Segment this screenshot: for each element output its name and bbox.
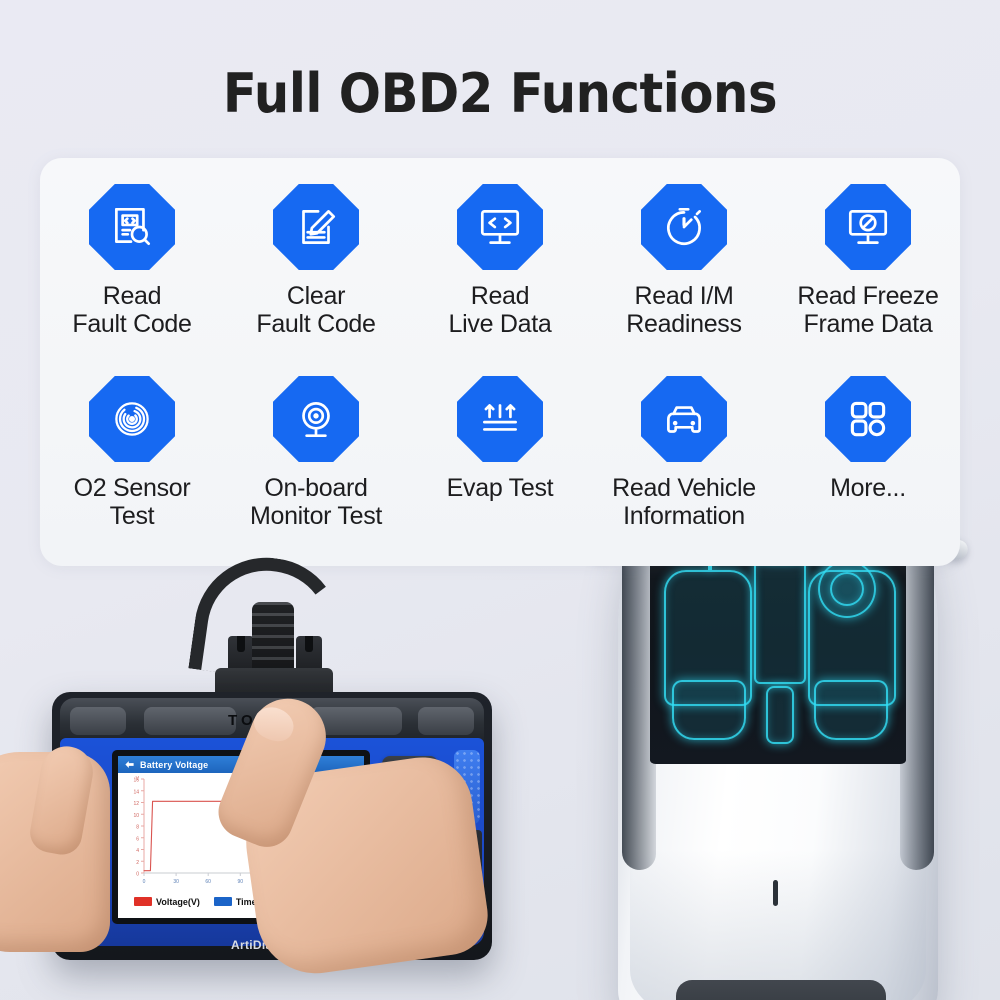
monitor-code-icon: [457, 184, 543, 270]
function-more[interactable]: More...: [776, 376, 960, 530]
svg-text:8: 8: [136, 825, 139, 831]
radar-sensor-icon: [89, 376, 175, 462]
function-label: Evap Test: [447, 474, 554, 502]
legend-label: Voltage(V): [156, 897, 200, 907]
legend-item-voltage: Voltage(V): [134, 897, 200, 907]
function-label: O2 Sensor Test: [74, 474, 191, 530]
function-clear-fault-code[interactable]: Clear Fault Code: [224, 184, 408, 338]
function-read-vehicle-information[interactable]: Read Vehicle Information: [592, 376, 776, 530]
function-read-fault-code[interactable]: Read Fault Code: [40, 184, 224, 338]
document-code-search-icon: [89, 184, 175, 270]
grid-apps-icon: [825, 376, 911, 462]
svg-text:12: 12: [133, 801, 139, 807]
car-wiper: [773, 880, 778, 906]
car-front-grille: [676, 980, 886, 1000]
function-label: On-board Monitor Test: [250, 474, 382, 530]
function-label: Read Vehicle Information: [612, 474, 756, 530]
document-pencil-icon: [273, 184, 359, 270]
car-hood-shadow: [630, 850, 926, 1000]
stopwatch-icon: [641, 184, 727, 270]
function-label: Clear Fault Code: [256, 282, 375, 338]
function-label: Read Fault Code: [72, 282, 191, 338]
svg-text:0: 0: [136, 872, 139, 878]
screen-title: Battery Voltage: [140, 760, 208, 770]
svg-text:10: 10: [133, 813, 139, 819]
legend-swatch-voltage: [134, 897, 152, 906]
svg-text:30: 30: [173, 879, 179, 885]
svg-text:90: 90: [238, 879, 244, 885]
legend-swatch-time: [214, 897, 232, 906]
functions-row-2: O2 Sensor Test On-board Monitor Test: [40, 376, 960, 530]
svg-text:6: 6: [136, 836, 139, 842]
function-onboard-monitor-test[interactable]: On-board Monitor Test: [224, 376, 408, 530]
function-label: More...: [830, 474, 906, 502]
page-title: Full OBD2 Functions: [40, 62, 960, 125]
svg-text:0: 0: [143, 879, 146, 885]
car-front-icon: [641, 376, 727, 462]
svg-text:4: 4: [136, 848, 139, 854]
function-label: Read Freeze Frame Data: [797, 282, 938, 338]
function-o2-sensor-test[interactable]: O2 Sensor Test: [40, 376, 224, 530]
function-label: Read Live Data: [449, 282, 552, 338]
function-read-im-readiness[interactable]: Read I/M Readiness: [592, 184, 776, 338]
function-read-live-data[interactable]: Read Live Data: [408, 184, 592, 338]
vapor-arrows-icon: [457, 376, 543, 462]
scanner-device-photo: TOPDON Battery Voltage 0246810121416V030…: [0, 540, 560, 1000]
monitor-prohibition-icon: [825, 184, 911, 270]
svg-text:2: 2: [136, 860, 139, 866]
camera-monitor-icon: [273, 376, 359, 462]
functions-card: Read Fault Code Clear Fault Code Rea: [40, 158, 960, 566]
function-read-freeze-frame-data[interactable]: Read Freeze Frame Data: [776, 184, 960, 338]
svg-text:14: 14: [133, 789, 139, 795]
function-label: Read I/M Readiness: [626, 282, 741, 338]
back-arrow-icon[interactable]: [124, 759, 135, 770]
functions-row-1: Read Fault Code Clear Fault Code Rea: [40, 184, 960, 338]
function-evap-test[interactable]: Evap Test: [408, 376, 592, 530]
svg-text:60: 60: [205, 879, 211, 885]
